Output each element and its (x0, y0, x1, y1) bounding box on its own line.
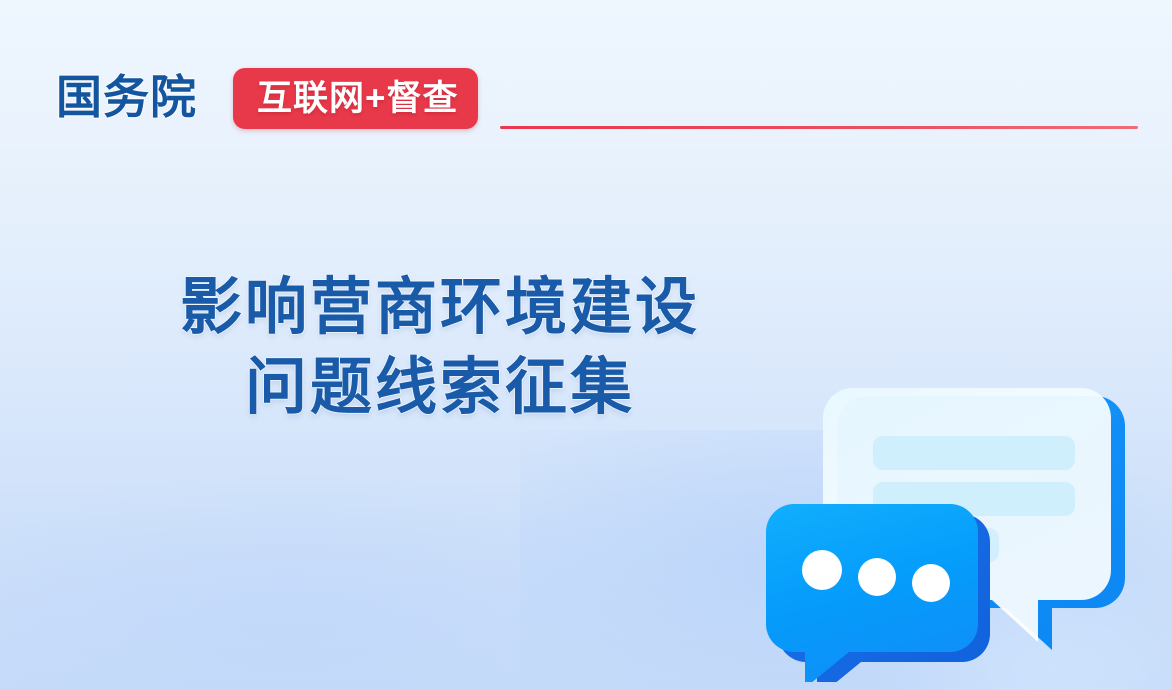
program-badge-label: 互联网+督查 (257, 79, 458, 119)
page-title-line-1: 影响营商环境建设 (0, 268, 880, 348)
chat-bubbles-illustration (745, 352, 1165, 682)
background-blob-left (0, 470, 700, 690)
banner-header: 国务院 互联网+督查 (0, 0, 1172, 140)
organization-name: 国务院 (56, 68, 197, 126)
header-divider-rule (500, 126, 1138, 129)
banner-root: 国务院 互联网+督查 影响营商环境建设 问题线索征集 (0, 0, 1172, 690)
program-badge: 互联网+督查 (233, 68, 478, 129)
